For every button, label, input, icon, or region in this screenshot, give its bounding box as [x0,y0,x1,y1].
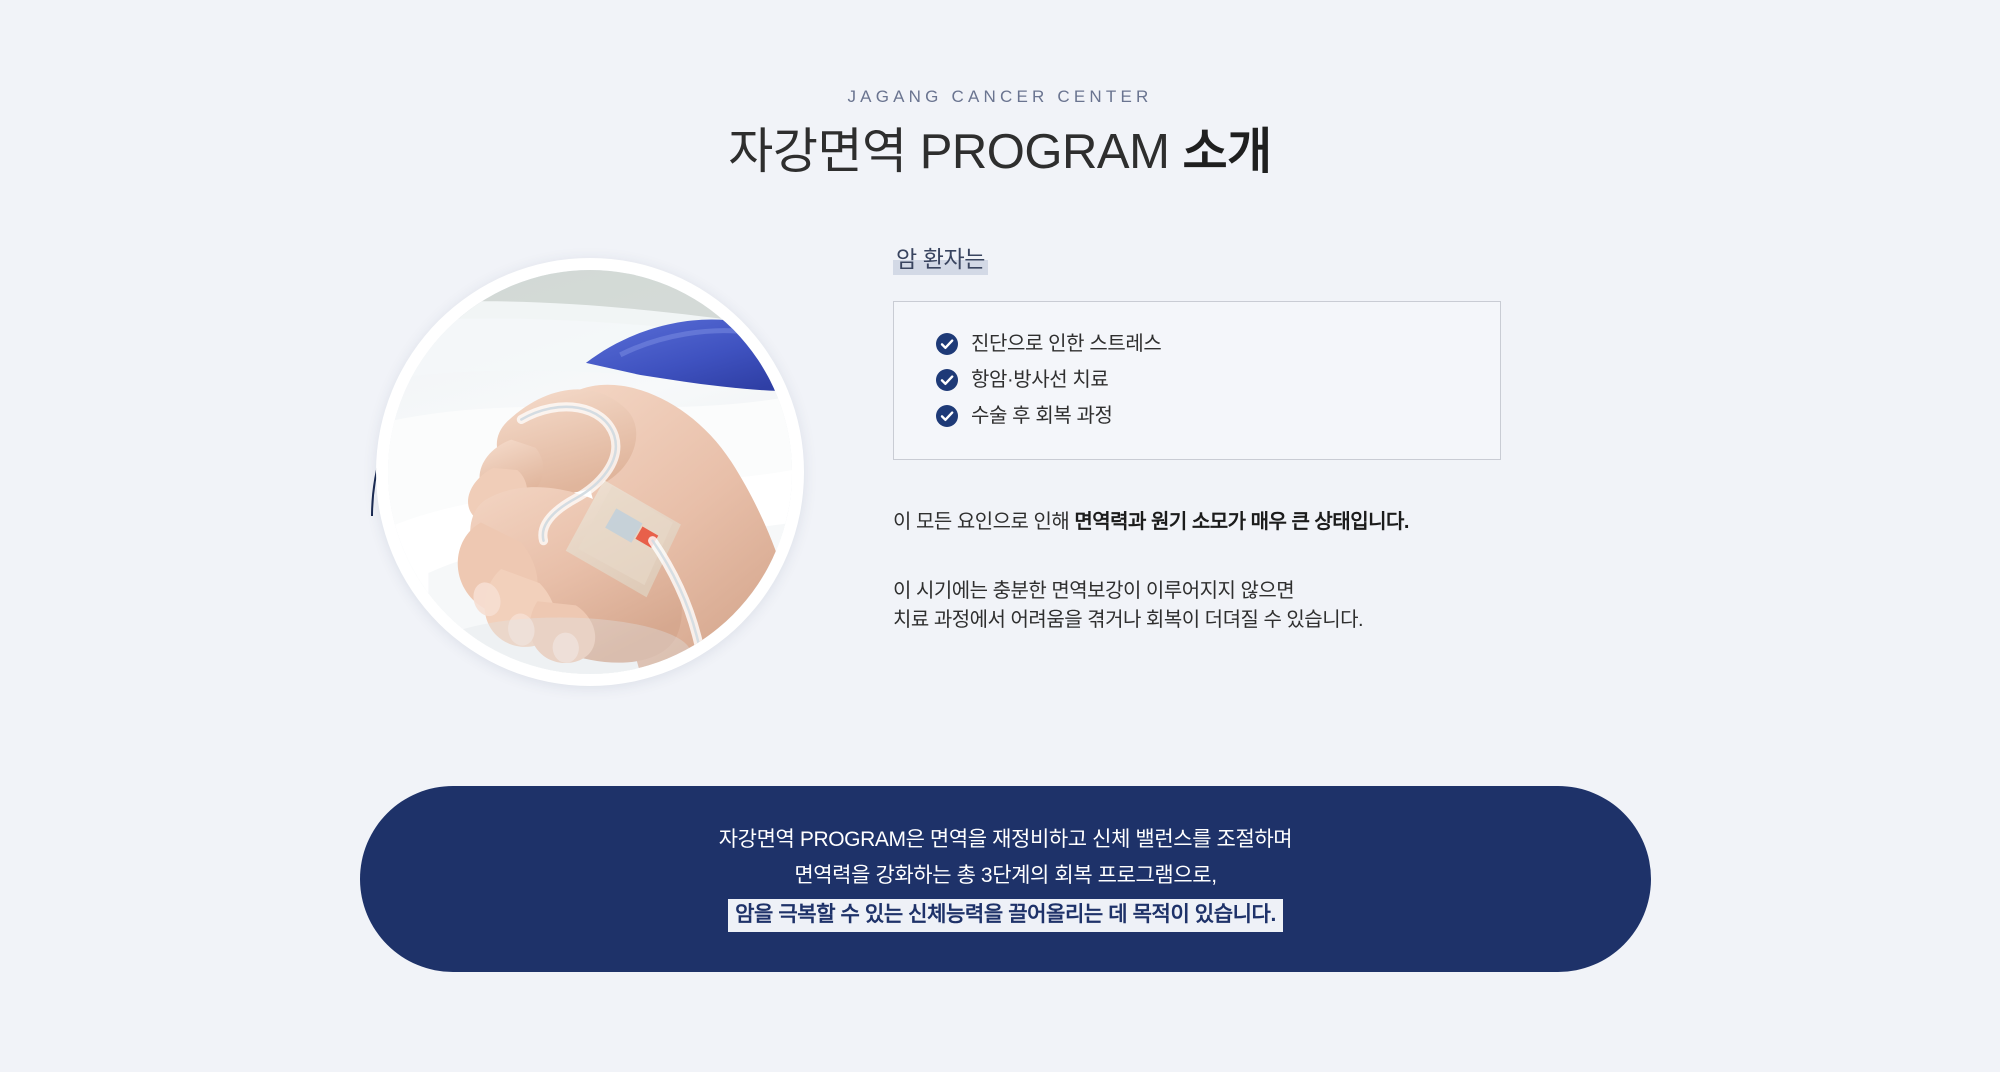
program-summary-banner: 자강면역 PROGRAM은 면역을 재정비하고 신체 밸런스를 조절하며 면역력… [360,786,1651,972]
check-circle-icon [936,405,958,427]
detail-paragraph-line2: 치료 과정에서 어려움을 겪거나 회복이 더뎌질 수 있습니다. [893,609,1363,631]
kicker-wrap: 암 환자는 [893,246,988,274]
page-title-normal: 자강면역 PROGRAM [728,125,1182,179]
summary-paragraph-normal: 이 모든 요인으로 인해 [893,511,1074,533]
list-item-label: 수술 후 회복 과정 [971,406,1112,426]
info-column: 암 환자는 진단으로 인한 스트레스 항암·방사선 치료 [893,246,1593,635]
summary-paragraph-bold: 면역력과 원기 소모가 매우 큰 상태입니다. [1074,511,1409,533]
patient-hand-iv-illustration [388,270,792,674]
banner-line-1: 자강면역 PROGRAM은 면역을 재정비하고 신체 밸런스를 조절하며 [719,826,1292,854]
list-item: 수술 후 회복 과정 [936,398,1500,434]
kicker-text: 암 환자는 [893,246,988,272]
list-item-label: 진단으로 인한 스트레스 [971,334,1161,354]
detail-paragraph-line1: 이 시기에는 충분한 면역보강이 이루어지지 않으면 [893,580,1294,602]
patient-photo [376,258,804,686]
page-title: 자강면역 PROGRAM 소개 [0,124,2000,182]
main-content: 암 환자는 진단으로 인한 스트레스 항암·방사선 치료 [0,246,2000,746]
list-item-label: 항암·방사선 치료 [971,370,1108,390]
detail-paragraph: 이 시기에는 충분한 면역보강이 이루어지지 않으면 치료 과정에서 어려움을 … [893,577,1593,635]
page-header: JAGANG CANCER CENTER 자강면역 PROGRAM 소개 [0,0,2000,182]
banner-line-2: 면역력을 강화하는 총 3단계의 회복 프로그램으로, [794,862,1216,890]
summary-paragraph: 이 모든 요인으로 인해 면역력과 원기 소모가 매우 큰 상태입니다. [893,508,1593,537]
photo-block [342,246,818,722]
patient-photo-image [388,270,792,674]
banner-line-3-highlighted: 암을 극복할 수 있는 신체능력을 끌어올리는 데 목적이 있습니다. [728,899,1283,932]
page-title-bold: 소개 [1183,125,1272,179]
check-circle-icon [936,369,958,391]
check-circle-icon [936,333,958,355]
list-item: 항암·방사선 치료 [936,362,1500,398]
list-item: 진단으로 인한 스트레스 [936,326,1500,362]
check-list-box: 진단으로 인한 스트레스 항암·방사선 치료 수술 후 회복 과정 [893,301,1501,460]
header-eyebrow: JAGANG CANCER CENTER [0,88,2000,105]
